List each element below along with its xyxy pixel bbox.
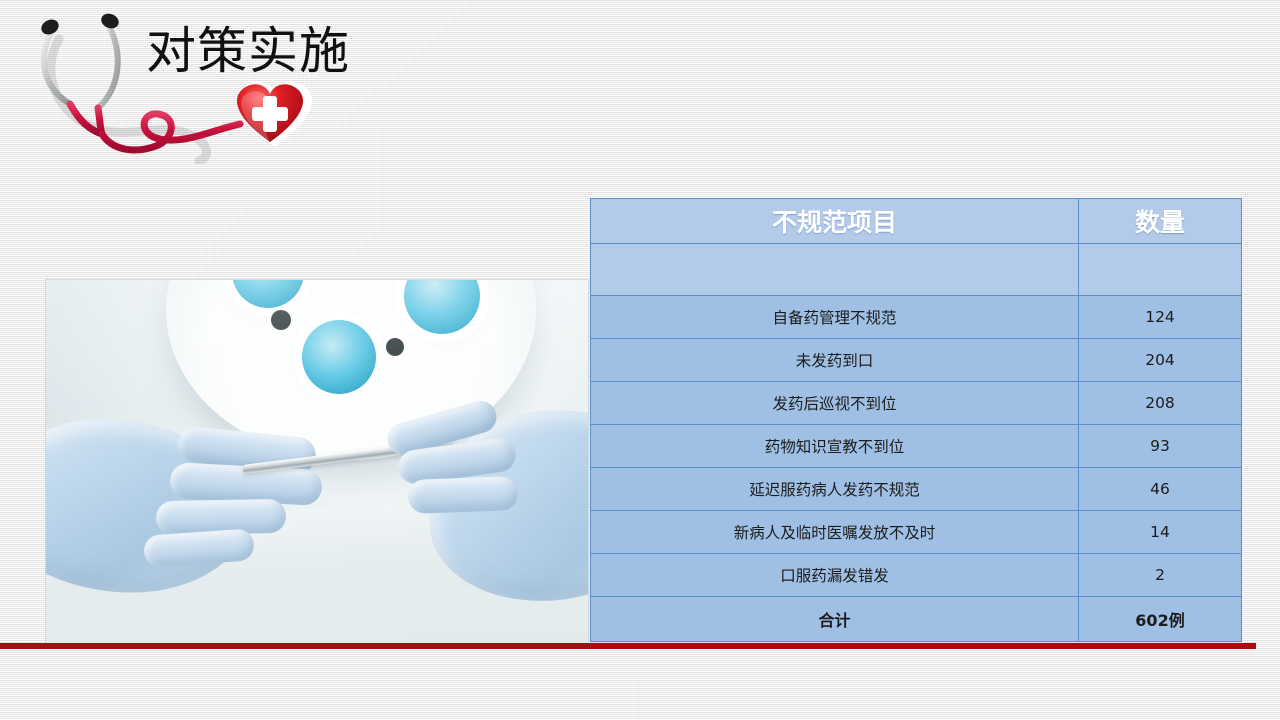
table-spacer-row xyxy=(591,244,1242,296)
table-header-row: 不规范项目 数量 xyxy=(591,199,1242,244)
table-row: 药物知识宣教不到位93 xyxy=(591,425,1242,468)
slide-canvas: 对策实施 不规范项目 数量 自备药 xyxy=(0,0,1280,720)
item-count-cell: 124 xyxy=(1079,296,1242,339)
table-body: 自备药管理不规范124未发药到口204发药后巡视不到位208药物知识宣教不到位9… xyxy=(591,244,1242,642)
item-name-cell: 药物知识宣教不到位 xyxy=(591,425,1079,468)
item-count-cell: 14 xyxy=(1079,511,1242,554)
item-name-cell: 发药后巡视不到位 xyxy=(591,382,1079,425)
item-count-cell: 208 xyxy=(1079,382,1242,425)
total-label-cell: 合计 xyxy=(591,597,1079,642)
bottom-accent-rule xyxy=(0,643,1256,649)
table-row: 新病人及临时医嘱发放不及时14 xyxy=(591,511,1242,554)
item-name-cell: 延迟服药病人发药不规范 xyxy=(591,468,1079,511)
item-count-cell xyxy=(1079,244,1242,296)
photo-highlight-overlay xyxy=(46,280,588,643)
page-title: 对策实施 xyxy=(146,26,350,76)
item-name-cell: 未发药到口 xyxy=(591,339,1079,382)
table-row: 未发药到口204 xyxy=(591,339,1242,382)
table-row: 延迟服药病人发药不规范46 xyxy=(591,468,1242,511)
item-name-cell: 自备药管理不规范 xyxy=(591,296,1079,339)
item-count-cell: 93 xyxy=(1079,425,1242,468)
table-total-row: 合计602例 xyxy=(591,597,1242,642)
item-count-cell: 46 xyxy=(1079,468,1242,511)
item-name-cell xyxy=(591,244,1079,296)
total-value-cell: 602例 xyxy=(1079,597,1242,642)
column-header-item: 不规范项目 xyxy=(591,199,1079,244)
column-header-qty: 数量 xyxy=(1079,199,1242,244)
surgical-hands-photo xyxy=(46,280,588,643)
item-count-cell: 2 xyxy=(1079,554,1242,597)
item-name-cell: 新病人及临时医嘱发放不及时 xyxy=(591,511,1079,554)
irregularity-statistics-table: 不规范项目 数量 自备药管理不规范124未发药到口204发药后巡视不到位208药… xyxy=(590,198,1242,642)
item-name-cell: 口服药漏发错发 xyxy=(591,554,1079,597)
table-row: 发药后巡视不到位208 xyxy=(591,382,1242,425)
title-block: 对策实施 xyxy=(0,0,430,180)
table-row: 自备药管理不规范124 xyxy=(591,296,1242,339)
item-count-cell: 204 xyxy=(1079,339,1242,382)
table-row: 口服药漏发错发2 xyxy=(591,554,1242,597)
